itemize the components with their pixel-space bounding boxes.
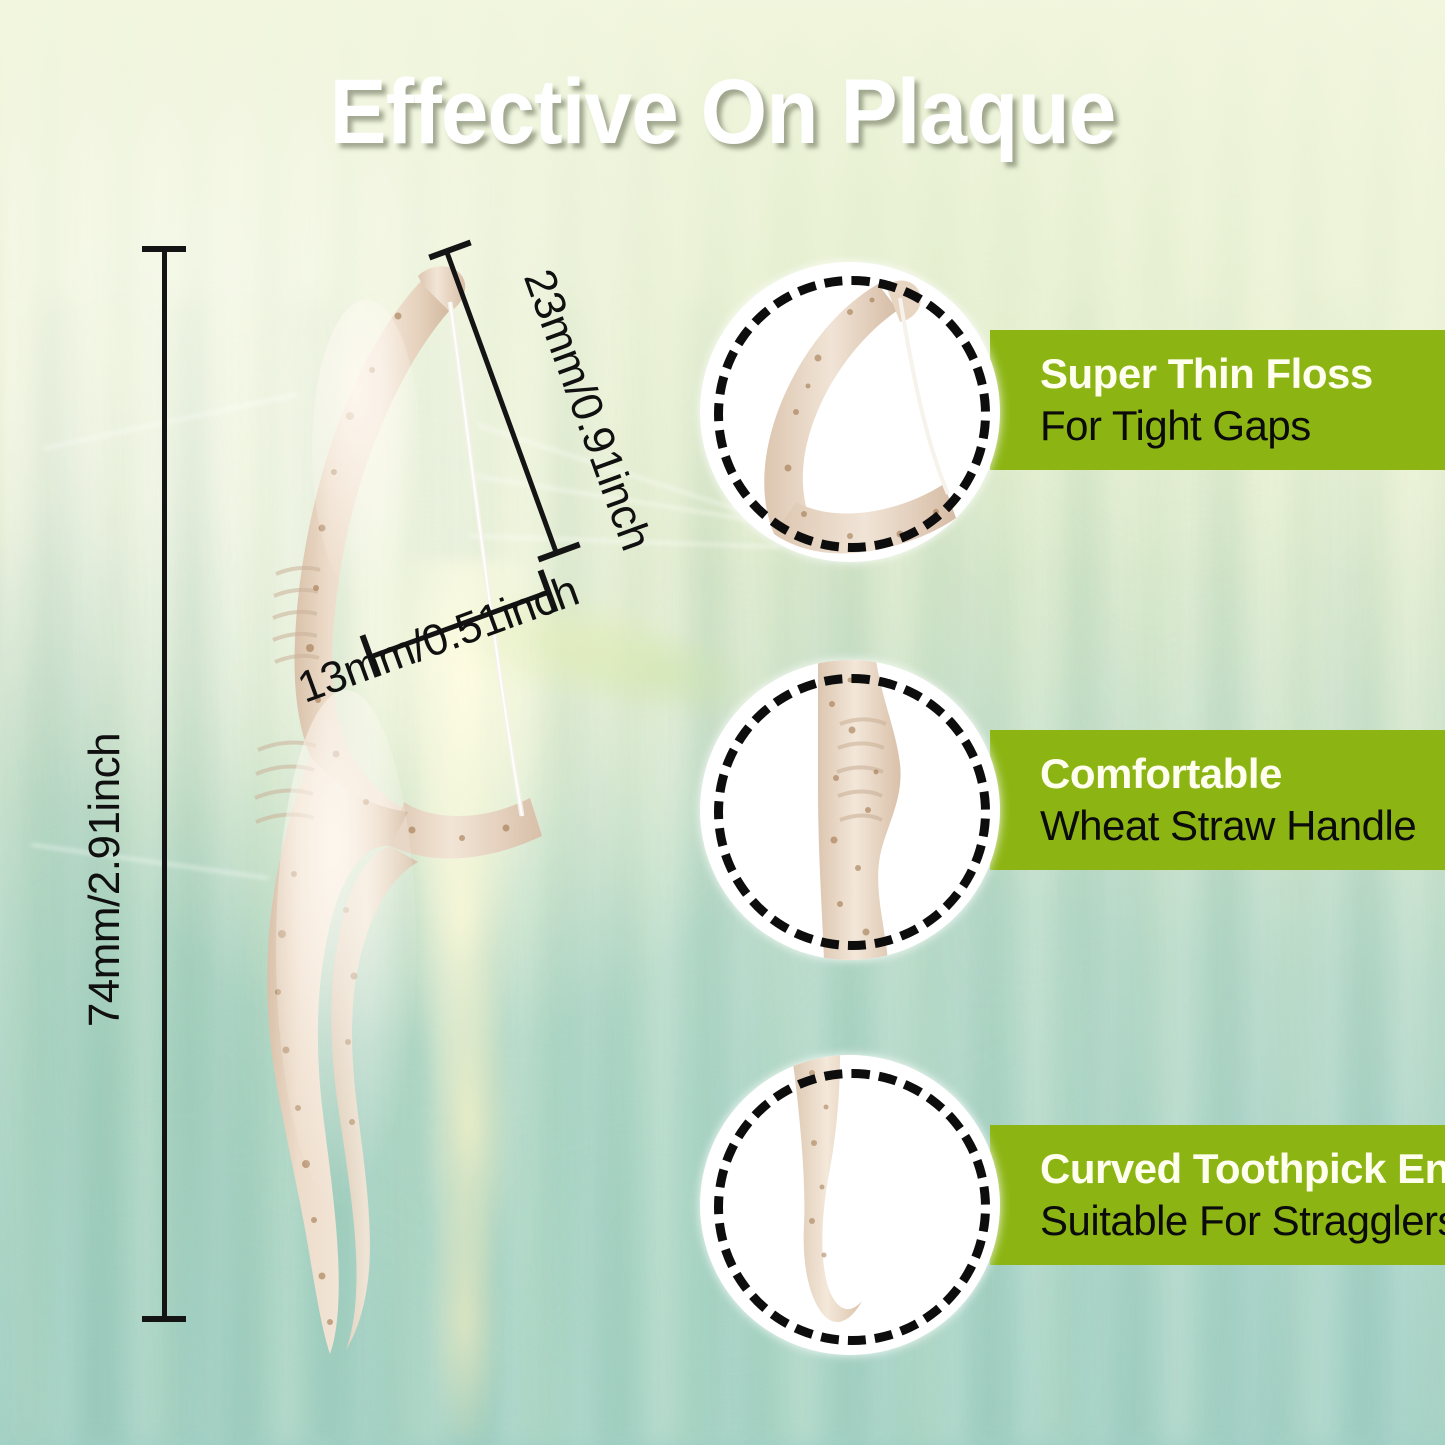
- dimension-cap-top: [142, 246, 186, 252]
- feature-title-1: Super Thin Floss: [1040, 351, 1445, 396]
- feature-circle-1: [700, 262, 1000, 562]
- feature-title-3: Curved Toothpick End: [1040, 1146, 1445, 1191]
- toothpick-tip-closeup-art: [700, 1055, 1000, 1355]
- head-sheen: [312, 300, 420, 600]
- floss-head-closeup-art: [700, 262, 1000, 562]
- dimension-label-height: 74mm/2.91inch: [80, 715, 130, 1045]
- feature-banner-1: Super Thin Floss For Tight Gaps: [990, 330, 1445, 470]
- feature-banner-3: Curved Toothpick End Suitable For Stragg…: [990, 1125, 1445, 1265]
- dimension-cap-bottom: [142, 1316, 186, 1322]
- feature-subtitle-3: Suitable For Stragglers: [1040, 1197, 1445, 1244]
- dimension-line-height: [162, 248, 167, 1322]
- product-feature-image: Effective On Plaque: [0, 0, 1445, 1445]
- feature-subtitle-1: For Tight Gaps: [1040, 402, 1445, 449]
- page-title: Effective On Plaque: [51, 60, 1395, 165]
- handle-grip-closeup-art: [700, 660, 1000, 960]
- handle-sheen: [276, 690, 416, 1210]
- feature-banner-2: Comfortable Wheat Straw Handle: [990, 730, 1445, 870]
- feature-subtitle-2: Wheat Straw Handle: [1040, 802, 1445, 849]
- feature-circle-2: [700, 660, 1000, 960]
- feature-circle-3: [700, 1055, 1000, 1355]
- feature-title-2: Comfortable: [1040, 751, 1445, 796]
- product-floss-pick: [150, 250, 600, 1360]
